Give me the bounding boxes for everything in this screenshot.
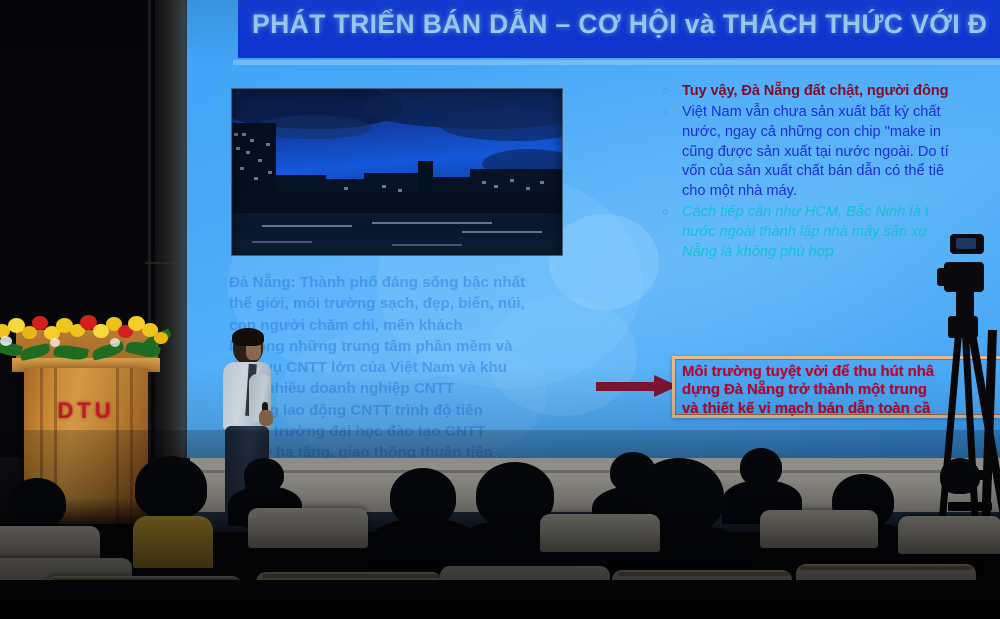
podium-logo-dtu: DTU (24, 398, 148, 424)
seat (760, 510, 878, 548)
flower-arrangement (0, 312, 182, 362)
audience-head (940, 458, 980, 494)
lecture-hall-photo: PHÁT TRIỂN BÁN DẪN – CƠ HỘI và THÁCH THỨ… (0, 0, 1000, 619)
leaf (19, 343, 51, 361)
audience-yellow-shirt (133, 516, 213, 568)
seat (248, 508, 368, 548)
projection-screen: PHÁT TRIỂN BÁN DẪN – CƠ HỘI và THÁCH THỨ… (187, 0, 1000, 460)
seat-trim (262, 574, 440, 578)
floor (0, 580, 1000, 619)
leaf (91, 341, 125, 360)
audience-area (0, 430, 1000, 619)
screen-vignette (187, 0, 1000, 460)
flower (110, 338, 120, 347)
leaf (53, 343, 89, 362)
seat-trim (618, 572, 790, 576)
camera-lens (937, 268, 953, 286)
seat (540, 514, 660, 552)
flower (0, 336, 12, 346)
seat (898, 516, 1000, 554)
presenter-hand (259, 410, 273, 426)
audience-head (135, 456, 207, 518)
audience-head (8, 478, 66, 528)
seat-trim (800, 566, 972, 570)
flower (50, 338, 60, 347)
camera-neck (956, 290, 974, 320)
wall-seam (148, 0, 151, 470)
presenter-hair (232, 328, 264, 346)
flower (154, 332, 168, 344)
camera-viewfinder-screen (956, 238, 976, 249)
